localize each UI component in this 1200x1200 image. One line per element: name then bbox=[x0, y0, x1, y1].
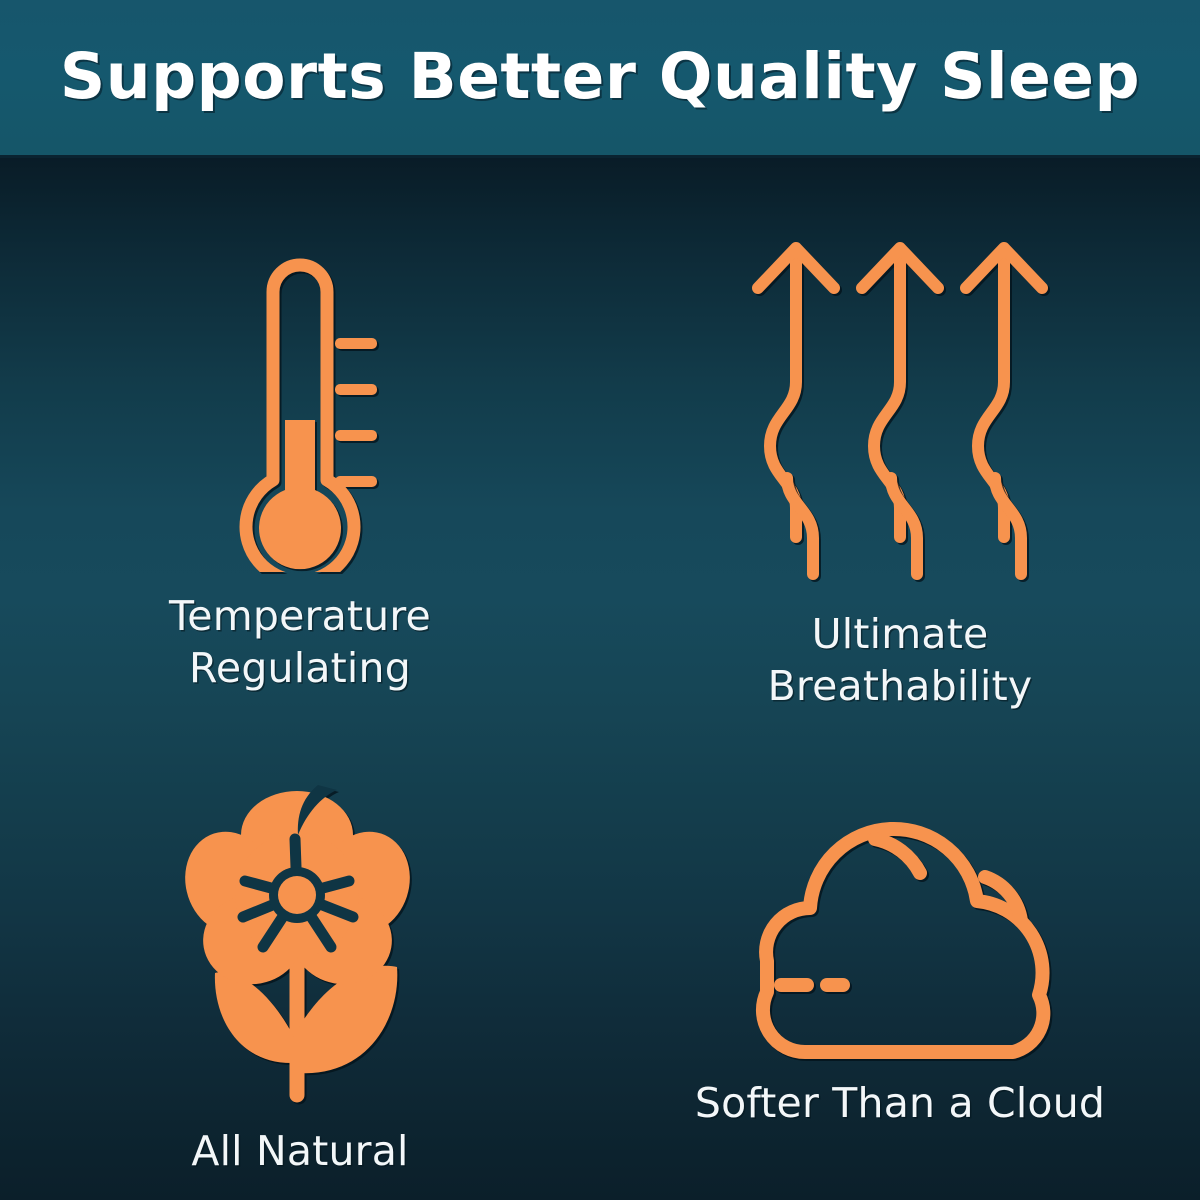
cloud-icon bbox=[723, 789, 1078, 1059]
flower-icon bbox=[185, 777, 415, 1107]
feature-card-ultimate-breathability: Ultimate Breathability bbox=[600, 158, 1200, 713]
feature-label-all-natural: All Natural bbox=[191, 1125, 408, 1177]
feature-card-temperature-regulating: Temperature Regulating bbox=[0, 158, 600, 713]
feature-label-temperature-regulating: Temperature Regulating bbox=[169, 590, 431, 695]
infographic-page: Supports Better Quality Sleep Tempe bbox=[0, 0, 1200, 1200]
thermometer-icon-wrap bbox=[195, 232, 405, 572]
feature-label-softer-than-a-cloud: Softer Than a Cloud bbox=[695, 1077, 1105, 1129]
flower-icon-wrap bbox=[185, 777, 415, 1107]
cloud-icon-wrap bbox=[723, 789, 1078, 1059]
feature-label-ultimate-breathability: Ultimate Breathability bbox=[768, 608, 1033, 713]
feature-grid: Temperature Regulating bbox=[0, 158, 1200, 1200]
breathability-lower-waves-icon bbox=[730, 470, 1070, 590]
feature-card-all-natural: All Natural bbox=[0, 713, 600, 1200]
page-title: Supports Better Quality Sleep bbox=[60, 45, 1140, 114]
thermometer-icon bbox=[195, 232, 405, 572]
header-banner: Supports Better Quality Sleep bbox=[0, 0, 1200, 158]
feature-card-softer-than-a-cloud: Softer Than a Cloud bbox=[600, 713, 1200, 1200]
